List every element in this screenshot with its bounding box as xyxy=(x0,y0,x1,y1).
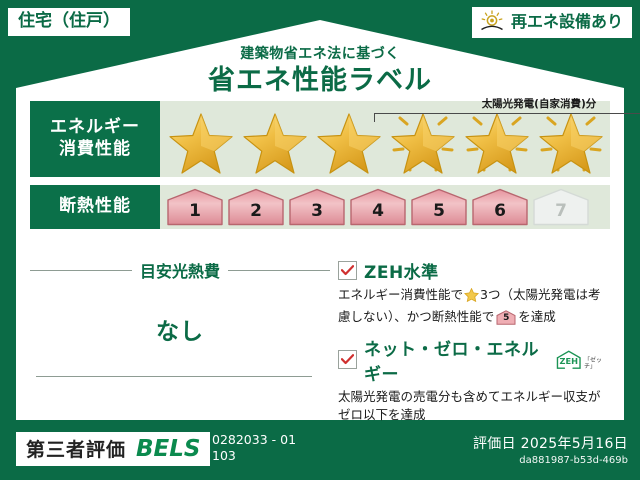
zeh-standard-title: ZEH水準 xyxy=(364,258,439,283)
insulation-level-7: 7 xyxy=(532,188,590,226)
renewable-badge-label: 再エネ設備あり xyxy=(511,13,623,31)
lower-section: 目安光熱費 なし ZEH水準 エネルギー消費性能で3つ（太陽光発電は考慮しない）… xyxy=(30,258,610,406)
energy-row-body: 太陽光発電(自家消費)分 xyxy=(160,101,610,177)
energy-row-label: エネルギー 消費性能 xyxy=(30,101,160,177)
solar-annotation: 太陽光発電(自家消費)分 xyxy=(374,99,640,122)
energy-label-line1: エネルギー xyxy=(50,117,140,139)
net-zero-title: ネット・ゼロ・エネルギー xyxy=(364,335,547,385)
insulation-level-3: 3 xyxy=(288,188,346,226)
insulation-level-6: 6 xyxy=(471,188,529,226)
zeh-standard-item: ZEH水準 エネルギー消費性能で3つ（太陽光発電は考慮しない）、かつ断熱性能で5… xyxy=(338,258,610,327)
insulation-level-value: 4 xyxy=(349,188,407,226)
performance-rows: エネルギー 消費性能 太陽光発電(自家消費)分 xyxy=(30,101,610,237)
insulation-level-value: 6 xyxy=(471,188,529,226)
insulation-row-label: 断熱性能 xyxy=(30,185,160,229)
insulation-performance-row: 断熱性能 1 2 xyxy=(30,185,610,229)
utility-cost-title-text: 目安光熱費 xyxy=(140,258,220,282)
insulation-level-value: 3 xyxy=(288,188,346,226)
inline-insulation-house-icon: 5 xyxy=(496,310,516,325)
footer-bar: 第三者評価 BELS 0282033 - 01 103 評価日 2025年5月1… xyxy=(0,424,640,480)
zeh-logo-subtext: 「ゼッチ」 xyxy=(584,358,610,372)
insulation-level-value: 7 xyxy=(532,188,590,226)
inline-house-value: 5 xyxy=(496,310,516,325)
net-zero-energy-item: ネット・ゼロ・エネルギー ZEH 「ゼッチ」 太陽光発電の売電分も含めてエネルギ… xyxy=(338,335,610,426)
utility-cost-bottom-rule xyxy=(36,376,312,377)
evaluation-date: 評価日 2025年5月16日 xyxy=(473,433,628,453)
bels-chip: 第三者評価 BELS xyxy=(16,432,210,466)
svg-text:ZEH: ZEH xyxy=(559,355,578,365)
insulation-label-text: 断熱性能 xyxy=(59,196,131,218)
utility-cost-value: なし xyxy=(30,312,330,346)
zeh-standard-head: ZEH水準 xyxy=(338,258,610,283)
bels-energy-label: 住宅（住戸） 再エネ設備あり 建築物省エネ法に基づく 省エネ性能ラベル xyxy=(0,0,640,480)
rule-left xyxy=(30,270,132,271)
insulation-scale: 1 2 3 xyxy=(160,185,596,229)
bels-jp-label: 第三者評価 xyxy=(26,435,126,462)
insulation-row-body: 1 2 3 xyxy=(160,185,610,229)
renewable-equipment-badge: 再エネ設備あり xyxy=(472,7,632,38)
bels-number-line1: 0282033 - 01 xyxy=(212,432,296,448)
rule-right xyxy=(228,270,330,271)
utility-cost-heading: 目安光熱費 xyxy=(30,258,330,282)
insulation-level-value: 2 xyxy=(227,188,285,226)
bels-number-line2: 103 xyxy=(212,448,296,464)
zeh-logo: ZEH 「ゼッチ」 xyxy=(554,348,611,372)
zeh-desc-part1: エネルギー消費性能で xyxy=(338,287,463,302)
star-2 xyxy=(240,102,310,176)
zeh-standard-checkbox[interactable] xyxy=(338,261,357,280)
inline-star-icon xyxy=(464,288,479,308)
energy-performance-row: エネルギー 消費性能 太陽光発電(自家消費)分 xyxy=(30,101,610,177)
insulation-level-5: 5 xyxy=(410,188,468,226)
solar-annotation-bracket xyxy=(374,113,640,122)
housing-type-chip: 住宅（住戸） xyxy=(8,8,130,36)
bels-certificate-number: 0282033 - 01 103 xyxy=(212,432,296,463)
star-1 xyxy=(166,102,236,176)
bels-en-label: BELS xyxy=(136,436,200,462)
insulation-level-4: 4 xyxy=(349,188,407,226)
sun-solar-icon xyxy=(479,10,505,34)
insulation-level-2: 2 xyxy=(227,188,285,226)
insulation-level-value: 1 xyxy=(166,188,224,226)
zeh-desc-part3: を達成 xyxy=(518,309,556,324)
zeh-standard-description: エネルギー消費性能で3つ（太陽光発電は考慮しない）、かつ断熱性能で5を達成 xyxy=(338,286,610,327)
utility-cost-column: 目安光熱費 なし xyxy=(30,258,330,406)
net-zero-checkbox[interactable] xyxy=(338,350,357,369)
footer-meta: 評価日 2025年5月16日 da881987-b53d-469b xyxy=(473,433,628,466)
page-title: 省エネ性能ラベル xyxy=(0,58,640,97)
net-zero-head: ネット・ゼロ・エネルギー ZEH 「ゼッチ」 xyxy=(338,335,610,385)
insulation-level-1: 1 xyxy=(166,188,224,226)
zeh-column: ZEH水準 エネルギー消費性能で3つ（太陽光発電は考慮しない）、かつ断熱性能で5… xyxy=(330,258,610,406)
document-hash: da881987-b53d-469b xyxy=(473,455,628,466)
solar-annotation-label: 太陽光発電(自家消費)分 xyxy=(374,99,640,111)
net-zero-description: 太陽光発電の売電分も含めてエネルギー収支がゼロ以下を達成 xyxy=(338,388,610,426)
energy-label-line2: 消費性能 xyxy=(59,139,131,161)
insulation-level-value: 5 xyxy=(410,188,468,226)
